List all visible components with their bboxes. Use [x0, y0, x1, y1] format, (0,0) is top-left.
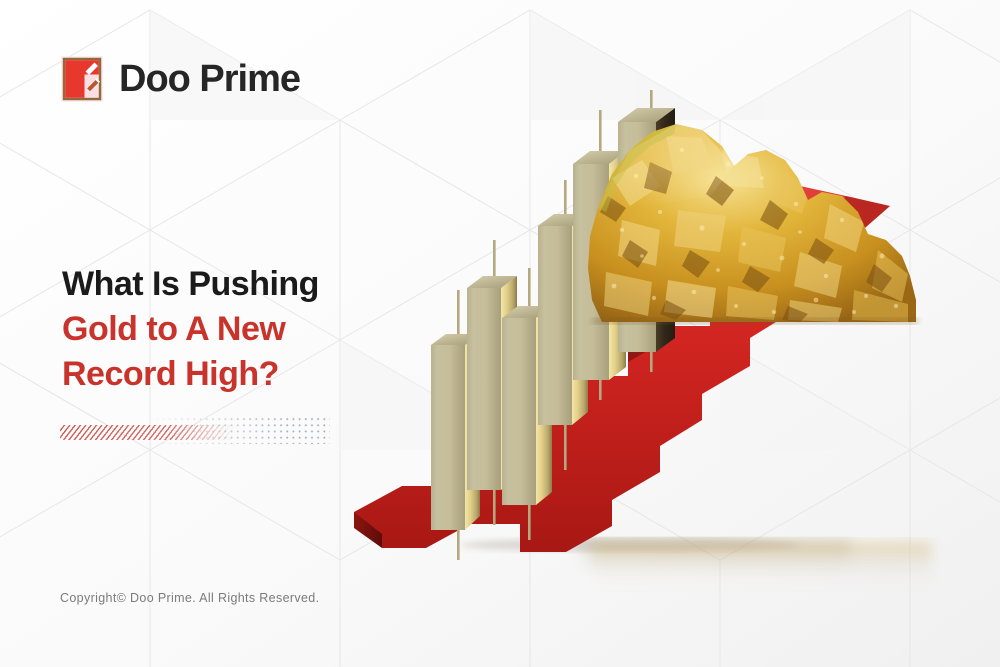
copyright-text: Copyright© Doo Prime. All Rights Reserve…	[60, 591, 319, 605]
headline-line-2: Gold to A New	[62, 307, 482, 352]
headline-line-1: What Is Pushing	[62, 262, 482, 307]
brand-name: Doo Prime	[119, 60, 300, 98]
dot-grid-decoration	[148, 416, 330, 444]
page-title: What Is Pushing Gold to A New Record Hig…	[62, 262, 482, 398]
doo-prime-logo-mark-icon	[60, 55, 104, 103]
brand-logo[interactable]: Doo Prime	[60, 55, 300, 103]
decorative-divider	[60, 414, 330, 448]
headline-line-3: Record High?	[62, 352, 482, 397]
banner-root: Doo Prime	[0, 0, 1000, 667]
